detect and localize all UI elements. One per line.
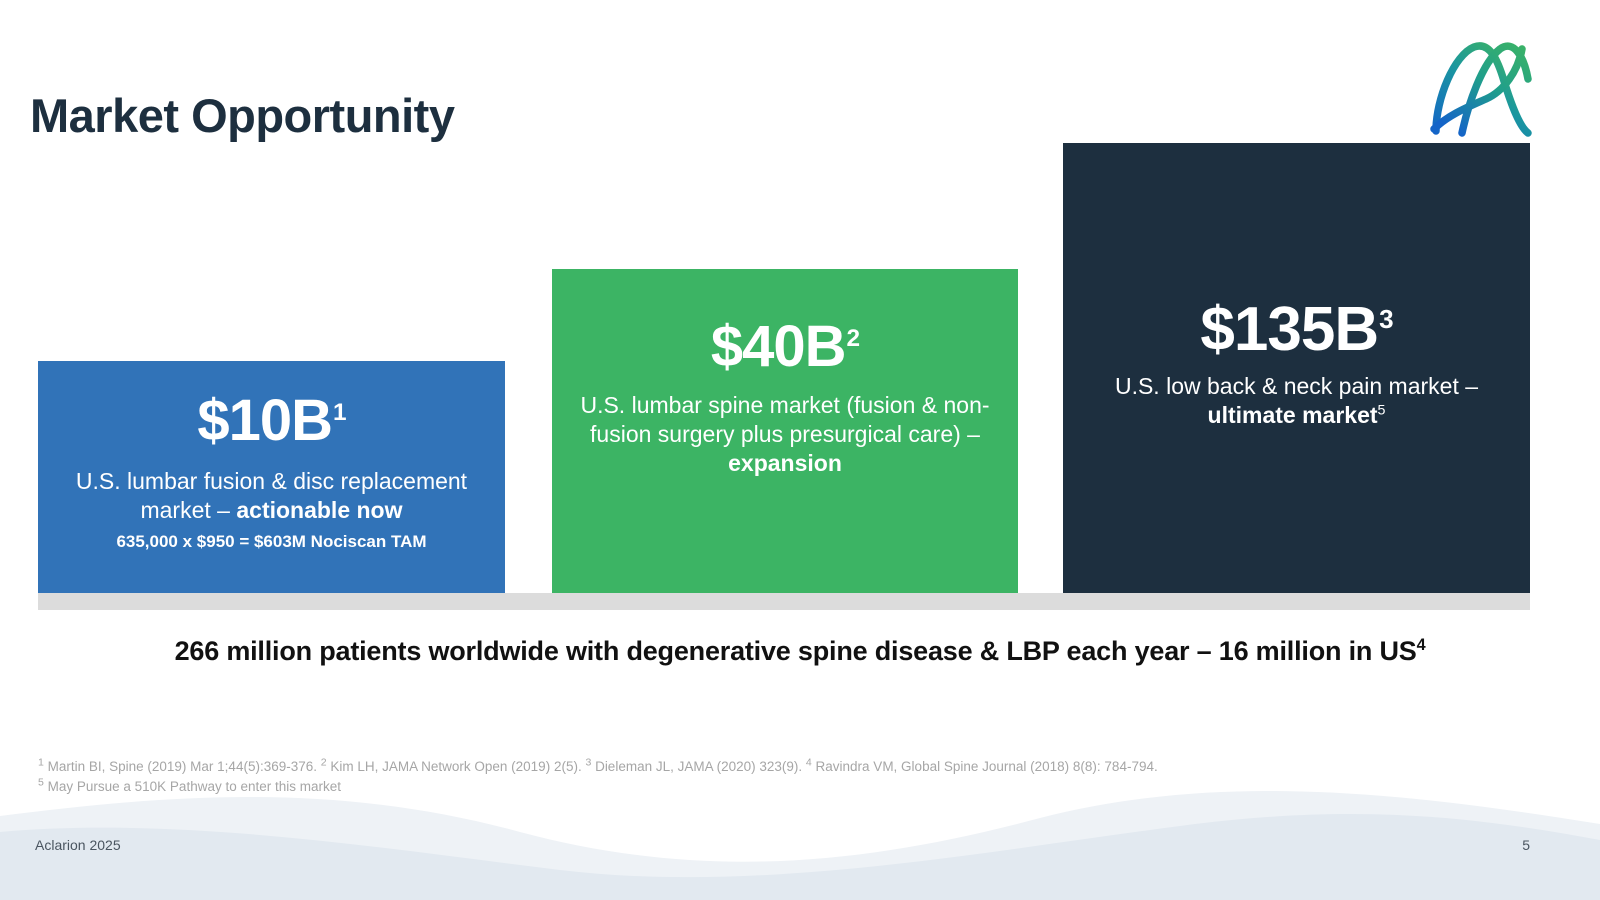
page-title: Market Opportunity <box>30 92 454 139</box>
bar-amount-navy: $135B3 <box>1200 298 1392 362</box>
page-number: 5 <box>1470 837 1530 853</box>
market-bar-lumbar-fusion: $10B1 U.S. lumbar fusion & disc replacem… <box>38 361 505 593</box>
market-bar-low-back-neck-pain: $135B3 U.S. low back & neck pain market … <box>1063 143 1530 593</box>
bar-description-green: U.S. lumbar spine market (fusion & non-f… <box>552 391 1018 477</box>
bar-amount-green: $40B2 <box>711 317 859 377</box>
bar-baseline <box>38 593 1530 610</box>
wave-decoration <box>0 770 1600 900</box>
market-bar-lumbar-spine: $40B2 U.S. lumbar spine market (fusion &… <box>552 269 1018 593</box>
bar-amount-blue: $10B1 <box>197 391 345 451</box>
summary-tagline: 266 million patients worldwide with dege… <box>0 636 1600 667</box>
slide-canvas: Market Opportunity $10B1 <box>0 0 1600 900</box>
footer-company-year: Aclarion 2025 <box>35 837 121 853</box>
aclarion-logo <box>1424 33 1536 139</box>
bar-description-blue: U.S. lumbar fusion & disc replacement ma… <box>38 467 505 525</box>
bar-description-navy: U.S. low back & neck pain market – ultim… <box>1063 372 1530 430</box>
bar-subtext-blue: 635,000 x $950 = $603M Nociscan TAM <box>116 532 426 552</box>
